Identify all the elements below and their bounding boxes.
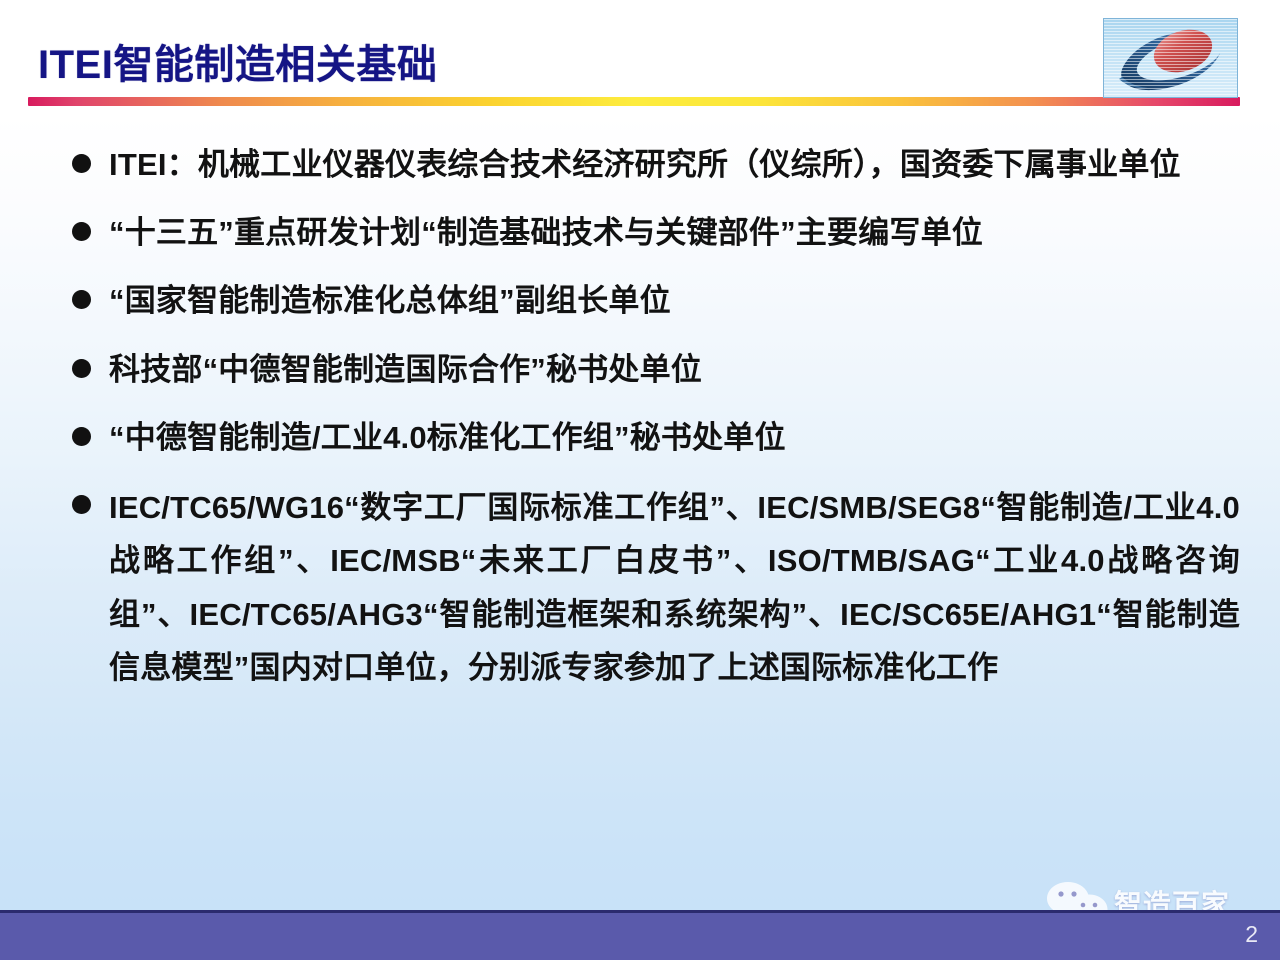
bullet-item: “国家智能制造标准化总体组”副组长单位 — [0, 276, 1280, 326]
bullet-dot-icon — [72, 222, 91, 241]
footer-organization: 机械工业仪器仪表综合技术经济研究所 — [0, 11, 1280, 47]
bullet-item: “中德智能制造/工业4.0标准化工作组”秘书处单位 — [0, 413, 1280, 463]
bullet-item: ITEI：机械工业仪器仪表综合技术经济研究所（仪综所），国资委下属事业单位 — [0, 140, 1280, 190]
bullet-dot-icon — [72, 359, 91, 378]
slide-body: ITEI：机械工业仪器仪表综合技术经济研究所（仪综所），国资委下属事业单位 “十… — [0, 140, 1280, 712]
bullet-dot-icon — [72, 290, 91, 309]
bullet-item: 科技部“中德智能制造国际合作”秘书处单位 — [0, 345, 1280, 395]
footer-bar — [0, 910, 1280, 960]
bullet-dot-icon — [72, 495, 91, 514]
bullet-dot-icon — [72, 154, 91, 173]
bullet-text: ITEI：机械工业仪器仪表综合技术经济研究所（仪综所），国资委下属事业单位 — [109, 140, 1240, 190]
slide: ITEI智能制造相关基础 — [0, 0, 1280, 960]
bullet-dot-icon — [72, 427, 91, 446]
bullet-text: “中德智能制造/工业4.0标准化工作组”秘书处单位 — [109, 413, 1240, 463]
bullet-text: “十三五”重点研发计划“制造基础技术与关键部件”主要编写单位 — [109, 208, 1240, 258]
title-gradient-rule — [28, 97, 1240, 106]
bullet-item: “十三五”重点研发计划“制造基础技术与关键部件”主要编写单位 — [0, 208, 1280, 258]
bullet-text: IEC/TC65/WG16“数字工厂国际标准工作组”、IEC/SMB/SEG8“… — [109, 481, 1240, 694]
page-number: 2 — [1245, 921, 1258, 948]
bullet-text: “国家智能制造标准化总体组”副组长单位 — [109, 276, 1240, 326]
bullet-item: IEC/TC65/WG16“数字工厂国际标准工作组”、IEC/SMB/SEG8“… — [0, 481, 1280, 694]
bullet-text: 科技部“中德智能制造国际合作”秘书处单位 — [109, 345, 1240, 395]
